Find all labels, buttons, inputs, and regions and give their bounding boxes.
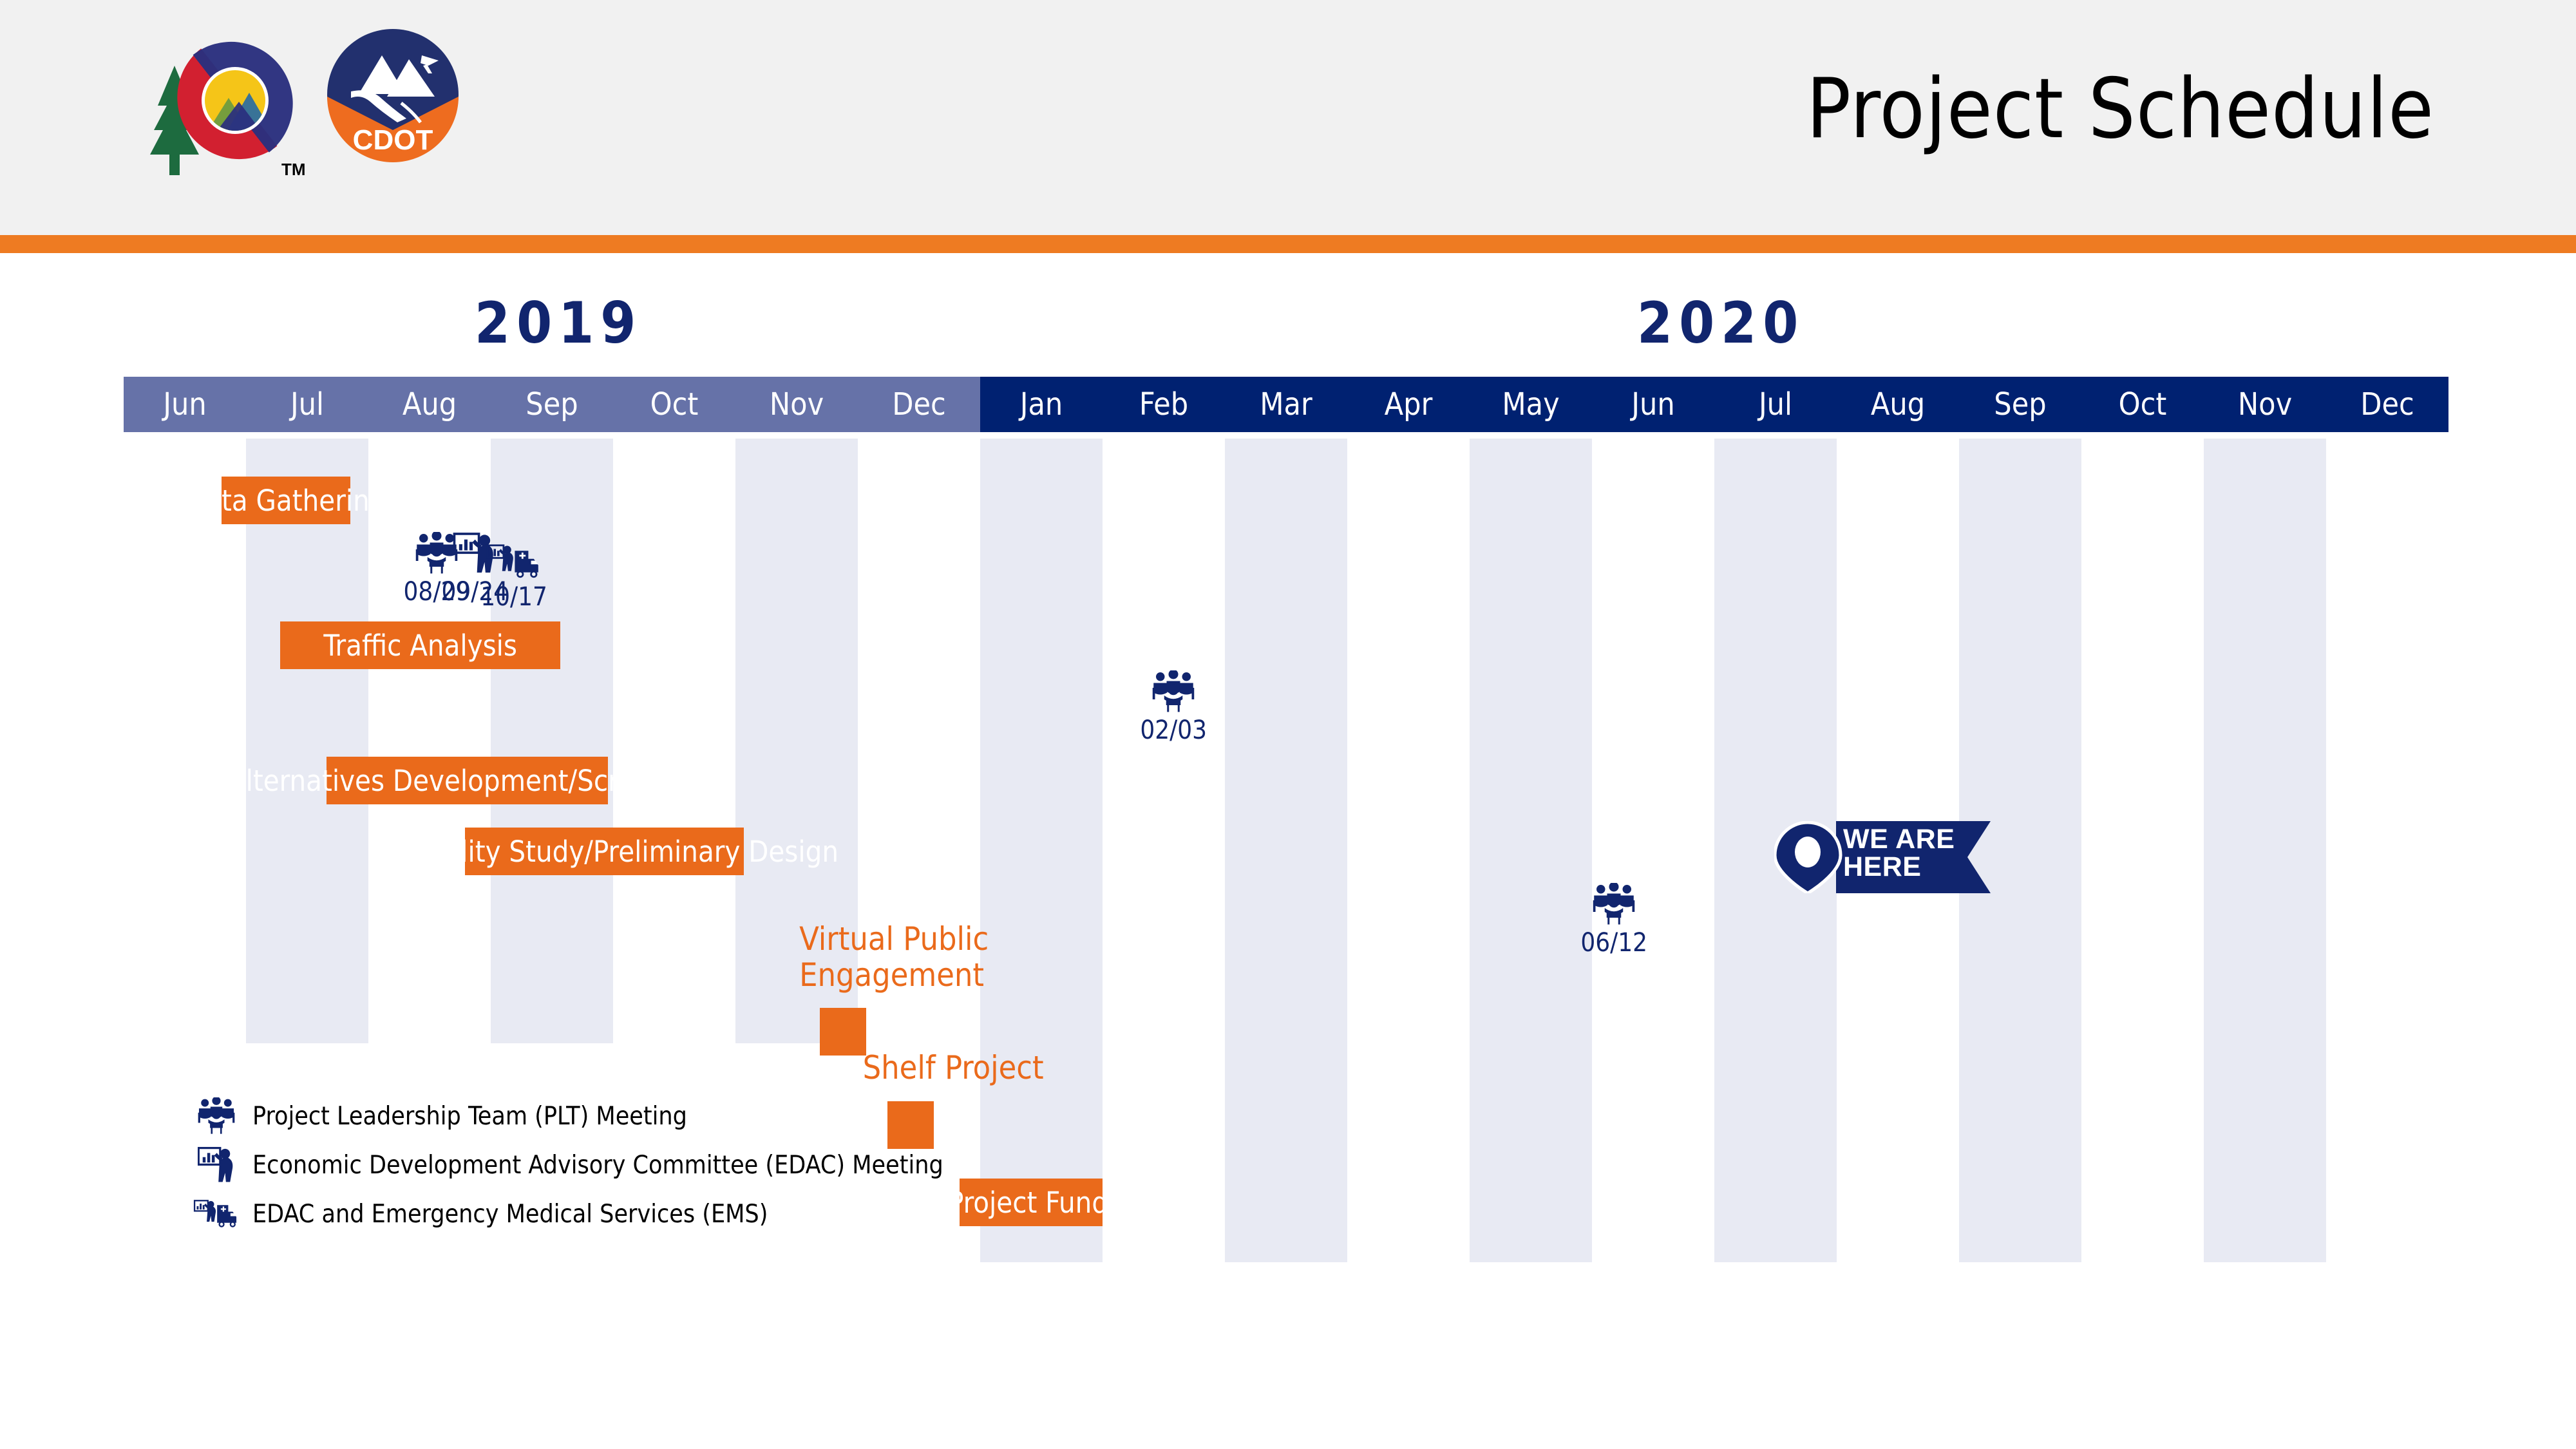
year-label-2019: 2019 <box>475 290 642 356</box>
task-outside-label: Virtual PublicEngagement <box>799 921 989 993</box>
we-are-here-text: WE ARE HERE <box>1843 826 1978 881</box>
month-label-dec-2019: Dec <box>858 377 980 432</box>
milestone: 06/12 <box>1553 885 1675 958</box>
presenter-ambulance-icon <box>478 540 550 580</box>
we-are-here-line1: WE ARE <box>1843 826 1978 853</box>
milestone-date: 06/12 <box>1580 928 1647 958</box>
task-bar: Secure Project Funding <box>960 1179 1103 1226</box>
month-label-aug-2020: Aug <box>1837 377 1959 432</box>
meeting-table-icon <box>1591 885 1637 925</box>
month-label-oct-2019: Oct <box>613 377 735 432</box>
task-bar: Alternatives Development/Screening <box>327 757 608 804</box>
task-bar-label: Feasibility Study/Preliminary Design <box>370 835 838 869</box>
continues-arrow-icon <box>1166 1184 1212 1218</box>
month-label-jun-2020: Jun <box>1592 377 1714 432</box>
legend: Project Leadership Team (PLT) MeetingEco… <box>187 1092 943 1238</box>
grid-stripe <box>2204 439 2326 1262</box>
task-bar <box>820 1008 866 1056</box>
legend-label: Project Leadership Team (PLT) Meeting <box>252 1102 687 1131</box>
milestone-date: 02/03 <box>1140 715 1207 745</box>
grid-stripe <box>246 439 368 1043</box>
milestone: 02/03 <box>1112 673 1235 745</box>
task-bar: Data Gathering <box>222 477 350 524</box>
month-label-sep-2019: Sep <box>491 377 613 432</box>
month-label-aug-2019: Aug <box>368 377 491 432</box>
task-outside-label: Shelf Project <box>863 1050 1044 1086</box>
task-bar-label: Data Gathering <box>185 484 386 518</box>
month-label-nov-2020: Nov <box>2204 377 2326 432</box>
milestone: 10/17 <box>453 540 575 612</box>
meeting-table-icon <box>1150 673 1197 713</box>
task-bar: Feasibility Study/Preliminary Design <box>465 828 744 875</box>
month-label-apr-2020: Apr <box>1347 377 1470 432</box>
legend-label: Economic Development Advisory Committee … <box>252 1151 943 1180</box>
meeting-table-icon <box>187 1097 246 1135</box>
legend-label: EDAC and Emergency Medical Services (EMS… <box>252 1200 768 1229</box>
month-label-feb-2020: Feb <box>1103 377 1225 432</box>
month-label-jun-2019: Jun <box>124 377 246 432</box>
month-label-may-2020: May <box>1470 377 1592 432</box>
year-label-2020: 2020 <box>1637 290 1804 356</box>
task-bar-label: Traffic Analysis <box>323 629 517 663</box>
month-label-jul-2019: Jul <box>246 377 368 432</box>
grid-stripe <box>491 439 613 1043</box>
month-label-jul-2020: Jul <box>1714 377 1837 432</box>
task-bar: Traffic Analysis <box>280 621 560 669</box>
presenter-chart-icon <box>187 1146 246 1184</box>
grid-stripe <box>1470 439 1592 1262</box>
legend-item: Economic Development Advisory Committee … <box>187 1141 943 1189</box>
grid-stripe <box>1225 439 1347 1262</box>
month-label-jan-2020: Jan <box>980 377 1103 432</box>
presenter-ambulance-icon <box>187 1199 246 1229</box>
month-label-mar-2020: Mar <box>1225 377 1347 432</box>
legend-item: EDAC and Emergency Medical Services (EMS… <box>187 1189 943 1238</box>
legend-item: Project Leadership Team (PLT) Meeting <box>187 1092 943 1141</box>
month-label-nov-2019: Nov <box>735 377 858 432</box>
month-label-sep-2020: Sep <box>1959 377 2081 432</box>
month-label-dec-2020: Dec <box>2326 377 2448 432</box>
month-label-oct-2020: Oct <box>2081 377 2204 432</box>
we-are-here-line2: HERE <box>1843 853 1978 881</box>
milestone-date: 10/17 <box>480 582 547 612</box>
task-bar-label: Alternatives Development/Screening <box>228 764 707 798</box>
grid-stripe <box>980 439 1103 1262</box>
